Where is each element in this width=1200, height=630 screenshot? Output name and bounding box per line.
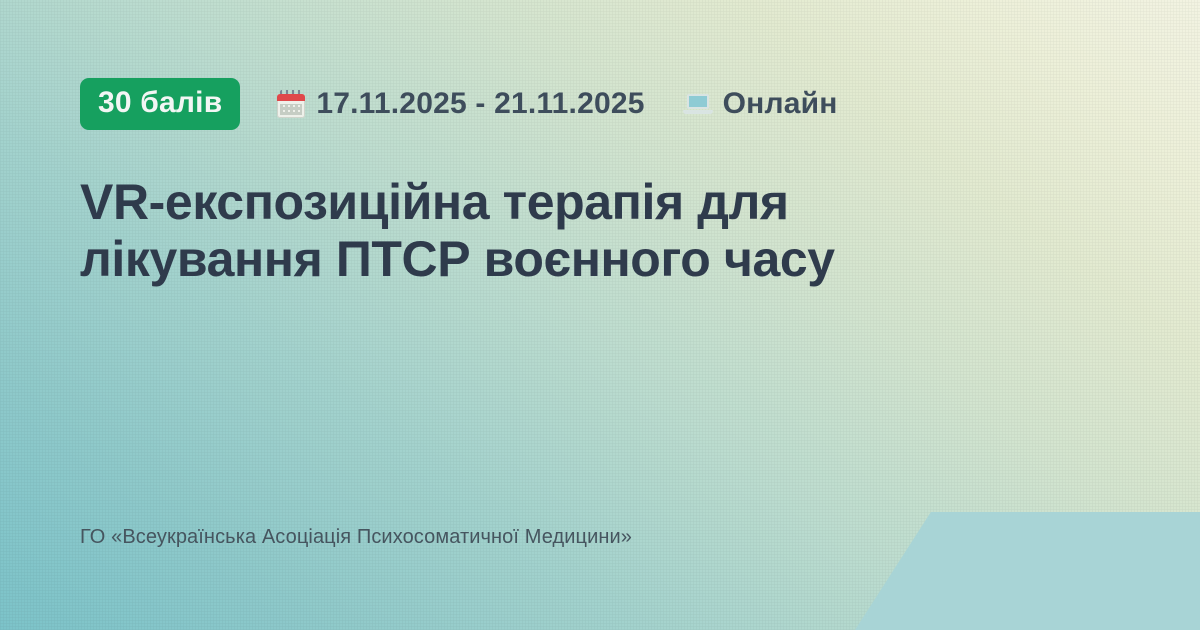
event-card: 30 балів 17.11.2025 - 21.11.2025 Онлайн	[0, 0, 1200, 630]
calendar-icon	[276, 89, 306, 119]
laptop-icon	[683, 89, 713, 119]
page-title-line-1: VR-експозиційна терапія для	[80, 174, 835, 231]
meta-row: 30 балів 17.11.2025 - 21.11.2025 Онлайн	[80, 78, 838, 130]
event-mode-label: Онлайн	[723, 87, 838, 121]
event-mode: Онлайн	[683, 87, 838, 121]
card-content: 30 балів 17.11.2025 - 21.11.2025 Онлайн	[80, 0, 1120, 630]
organizer-name: ГО «Всеукраїнська Асоціація Психосоматич…	[80, 526, 632, 549]
page-title: VR-експозиційна терапія для лікування ПТ…	[80, 174, 835, 287]
page-title-line-2: лікування ПТСР воєнного часу	[80, 231, 835, 288]
date-range: 17.11.2025 - 21.11.2025	[276, 87, 644, 121]
date-range-label: 17.11.2025 - 21.11.2025	[316, 87, 644, 121]
points-badge: 30 балів	[80, 78, 240, 130]
